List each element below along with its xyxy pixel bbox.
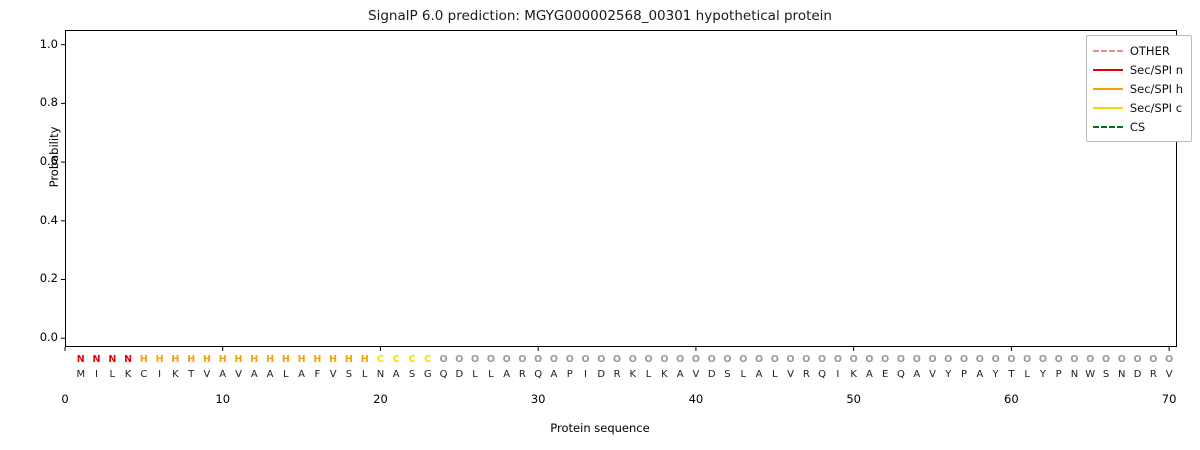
amino-acid-cell: Q	[530, 369, 546, 380]
amino-acid-cell: N	[1066, 369, 1082, 380]
amino-acid-cell: K	[656, 369, 672, 380]
region-annotation-cell: O	[1098, 354, 1114, 365]
x-axis-tick-label: 60	[991, 392, 1031, 406]
amino-acid-cell: V	[783, 369, 799, 380]
amino-acid-cell: A	[294, 369, 310, 380]
region-annotation-cell: O	[609, 354, 625, 365]
region-annotation-cell: O	[1019, 354, 1035, 365]
x-axis-tick-label: 10	[203, 392, 243, 406]
region-annotation-cell: O	[735, 354, 751, 365]
amino-acid-cell: S	[1098, 369, 1114, 380]
region-annotation-cell: H	[215, 354, 231, 365]
region-annotation-cell: O	[972, 354, 988, 365]
amino-acid-cell: A	[215, 369, 231, 380]
amino-acid-cell: A	[861, 369, 877, 380]
region-annotation-cell: O	[798, 354, 814, 365]
region-annotation-cell: O	[625, 354, 641, 365]
amino-acid-cell: W	[1082, 369, 1098, 380]
region-annotation-cell: O	[909, 354, 925, 365]
amino-acid-cell: V	[325, 369, 341, 380]
amino-acid-cell: G	[420, 369, 436, 380]
region-annotation-cell: H	[325, 354, 341, 365]
region-annotation-cell: O	[925, 354, 941, 365]
region-annotation-cell: O	[893, 354, 909, 365]
region-annotation-cell: H	[136, 354, 152, 365]
legend-swatch-icon	[1093, 107, 1123, 109]
amino-acid-cell: P	[562, 369, 578, 380]
region-annotation-cell: H	[231, 354, 247, 365]
region-annotation-cell: O	[499, 354, 515, 365]
region-annotation-cell: O	[483, 354, 499, 365]
region-annotation-cell: H	[294, 354, 310, 365]
x-axis-tick-label: 40	[676, 392, 716, 406]
region-annotation-cell: O	[783, 354, 799, 365]
region-annotation-cell: O	[719, 354, 735, 365]
amino-acid-cell: Y	[1035, 369, 1051, 380]
region-annotation-cell: O	[988, 354, 1004, 365]
region-annotation-cell: O	[830, 354, 846, 365]
amino-acid-cell: L	[1019, 369, 1035, 380]
region-annotation-cell: O	[436, 354, 452, 365]
x-axis-tick-label: 70	[1149, 392, 1189, 406]
amino-acid-cell: D	[704, 369, 720, 380]
amino-acid-cell: N	[372, 369, 388, 380]
legend-swatch-icon	[1093, 88, 1123, 90]
amino-acid-cell: P	[956, 369, 972, 380]
region-annotation-cell: H	[183, 354, 199, 365]
amino-acid-cell: V	[925, 369, 941, 380]
amino-acid-cell: L	[357, 369, 373, 380]
amino-acid-cell: A	[546, 369, 562, 380]
region-annotation-cell: C	[420, 354, 436, 365]
amino-acid-cell: A	[388, 369, 404, 380]
amino-acid-cell: A	[246, 369, 262, 380]
amino-acid-sequence-row: MILKCIKTVAVAALAFVSLNASGQDLLARQAPIDRKLKAV…	[0, 369, 1200, 383]
amino-acid-cell: V	[199, 369, 215, 380]
region-annotation-cell: O	[1082, 354, 1098, 365]
amino-acid-cell: I	[830, 369, 846, 380]
amino-acid-cell: K	[167, 369, 183, 380]
legend-swatch-icon	[1093, 126, 1123, 128]
region-annotation-cell: N	[120, 354, 136, 365]
region-annotation-cell: H	[167, 354, 183, 365]
amino-acid-cell: I	[89, 369, 105, 380]
amino-acid-cell: A	[672, 369, 688, 380]
amino-acid-cell: R	[798, 369, 814, 380]
region-annotation-cell: O	[578, 354, 594, 365]
legend-swatch-icon	[1093, 69, 1123, 71]
amino-acid-cell: A	[262, 369, 278, 380]
amino-acid-cell: A	[499, 369, 515, 380]
amino-acid-cell: P	[1051, 369, 1067, 380]
region-annotation-cell: H	[262, 354, 278, 365]
region-annotation-cell: O	[704, 354, 720, 365]
legend-item-cs[interactable]: CS	[1093, 117, 1183, 136]
amino-acid-cell: L	[767, 369, 783, 380]
region-annotation-cell: H	[341, 354, 357, 365]
signalp-prediction-figure: SignalP 6.0 prediction: MGYG000002568_00…	[0, 0, 1200, 450]
region-annotation-cell: O	[641, 354, 657, 365]
legend-item-sec-spi-n[interactable]: Sec/SPI n	[1093, 60, 1183, 79]
region-annotation-cell: O	[846, 354, 862, 365]
amino-acid-cell: V	[1161, 369, 1177, 380]
region-annotation-cell: H	[152, 354, 168, 365]
legend-label: OTHER	[1130, 44, 1170, 58]
amino-acid-cell: Q	[893, 369, 909, 380]
region-annotation-cell: N	[104, 354, 120, 365]
x-axis-tick-label: 20	[360, 392, 400, 406]
amino-acid-cell: K	[846, 369, 862, 380]
region-annotation-cell: O	[1066, 354, 1082, 365]
amino-acid-cell: S	[404, 369, 420, 380]
amino-acid-cell: I	[152, 369, 168, 380]
amino-acid-cell: R	[1145, 369, 1161, 380]
region-annotation-cell: O	[530, 354, 546, 365]
region-annotation-cell: O	[1130, 354, 1146, 365]
amino-acid-cell: L	[467, 369, 483, 380]
amino-acid-cell: D	[593, 369, 609, 380]
amino-acid-cell: D	[1130, 369, 1146, 380]
region-annotation-cell: C	[372, 354, 388, 365]
amino-acid-cell: A	[972, 369, 988, 380]
amino-acid-cell: A	[909, 369, 925, 380]
x-axis-tick-label: 0	[45, 392, 85, 406]
region-annotation-cell: O	[877, 354, 893, 365]
region-annotation-cell: O	[751, 354, 767, 365]
legend-label: CS	[1130, 120, 1145, 134]
amino-acid-cell: Q	[436, 369, 452, 380]
amino-acid-cell: Y	[940, 369, 956, 380]
region-annotation-cell: N	[89, 354, 105, 365]
region-annotation-cell: O	[562, 354, 578, 365]
region-annotation-row: NNNNHHHHHHHHHHHHHHHCCCCOOOOOOOOOOOOOOOOO…	[0, 354, 1200, 368]
legend-item-other[interactable]: OTHER	[1093, 41, 1183, 60]
region-annotation-cell: O	[1003, 354, 1019, 365]
region-annotation-cell: O	[814, 354, 830, 365]
amino-acid-cell: T	[183, 369, 199, 380]
legend-label: Sec/SPI c	[1130, 101, 1182, 115]
region-annotation-cell: H	[357, 354, 373, 365]
region-annotation-cell: O	[1145, 354, 1161, 365]
region-annotation-cell: O	[467, 354, 483, 365]
amino-acid-cell: F	[309, 369, 325, 380]
amino-acid-cell: L	[278, 369, 294, 380]
amino-acid-cell: Q	[814, 369, 830, 380]
region-annotation-cell: C	[388, 354, 404, 365]
region-annotation-cell: N	[73, 354, 89, 365]
region-annotation-cell: H	[278, 354, 294, 365]
amino-acid-cell: V	[688, 369, 704, 380]
amino-acid-cell: S	[719, 369, 735, 380]
amino-acid-cell: L	[483, 369, 499, 380]
region-annotation-cell: O	[451, 354, 467, 365]
amino-acid-cell: E	[877, 369, 893, 380]
region-annotation-cell: O	[1114, 354, 1130, 365]
amino-acid-cell: C	[136, 369, 152, 380]
amino-acid-cell: D	[451, 369, 467, 380]
legend-item-sec-spi-h[interactable]: Sec/SPI h	[1093, 79, 1183, 98]
region-annotation-cell: H	[309, 354, 325, 365]
region-annotation-cell: O	[672, 354, 688, 365]
region-annotation-cell: O	[1161, 354, 1177, 365]
region-annotation-cell: H	[199, 354, 215, 365]
region-annotation-cell: O	[688, 354, 704, 365]
region-annotation-cell: O	[956, 354, 972, 365]
amino-acid-cell: R	[609, 369, 625, 380]
region-annotation-cell: O	[656, 354, 672, 365]
region-annotation-cell: O	[861, 354, 877, 365]
amino-acid-cell: L	[735, 369, 751, 380]
region-annotation-cell: H	[246, 354, 262, 365]
legend-swatch-icon	[1093, 50, 1123, 52]
region-annotation-cell: C	[404, 354, 420, 365]
x-axis-tick-label: 30	[518, 392, 558, 406]
amino-acid-cell: L	[104, 369, 120, 380]
x-axis-tick-label: 50	[834, 392, 874, 406]
legend-item-sec-spi-c[interactable]: Sec/SPI c	[1093, 98, 1183, 117]
amino-acid-cell: N	[1114, 369, 1130, 380]
amino-acid-cell: M	[73, 369, 89, 380]
amino-acid-cell: K	[625, 369, 641, 380]
region-annotation-cell: O	[1035, 354, 1051, 365]
region-annotation-cell: O	[767, 354, 783, 365]
legend-label: Sec/SPI n	[1130, 63, 1183, 77]
amino-acid-cell: Y	[988, 369, 1004, 380]
amino-acid-cell: V	[231, 369, 247, 380]
legend[interactable]: OTHERSec/SPI nSec/SPI hSec/SPI cCS	[1086, 35, 1192, 142]
region-annotation-cell: O	[593, 354, 609, 365]
amino-acid-cell: L	[641, 369, 657, 380]
legend-label: Sec/SPI h	[1130, 82, 1183, 96]
region-annotation-cell: O	[514, 354, 530, 365]
amino-acid-cell: S	[341, 369, 357, 380]
amino-acid-cell: A	[751, 369, 767, 380]
region-annotation-cell: O	[940, 354, 956, 365]
amino-acid-cell: T	[1003, 369, 1019, 380]
region-annotation-cell: O	[546, 354, 562, 365]
amino-acid-cell: R	[514, 369, 530, 380]
amino-acid-cell: I	[578, 369, 594, 380]
region-annotation-cell: O	[1051, 354, 1067, 365]
plot-frame	[65, 30, 1177, 347]
amino-acid-cell: K	[120, 369, 136, 380]
